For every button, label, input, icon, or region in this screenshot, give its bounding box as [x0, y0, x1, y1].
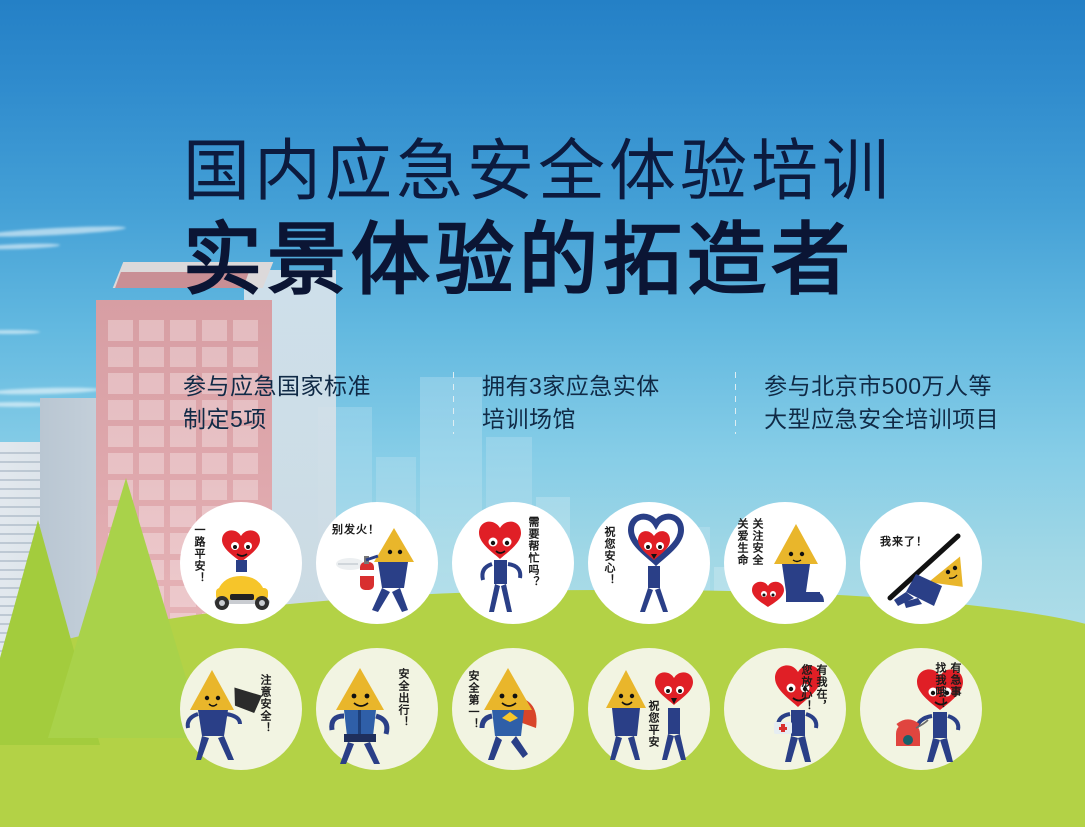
mascot-caption: 安全第一！ [466, 670, 479, 730]
feature-3-line-1: 参与北京市500万人等 [764, 370, 1023, 403]
mascot-row-2: 注意安全！ 安全出行！ [180, 648, 982, 770]
heart-with-telephone-illustration [860, 648, 982, 770]
headline-line-2: 实景体验的拓造者 [183, 214, 1013, 306]
mascot-bubble-heart-outline[interactable]: 祝您安心！ [588, 502, 710, 624]
feature-divider [453, 372, 454, 434]
feature-divider [735, 372, 736, 434]
mascot-bubble-safety-life[interactable]: 关注安全 关爱生命 [724, 502, 846, 624]
mascot-bubble-safe-travel[interactable]: 安全出行！ [316, 648, 438, 770]
mascot-bubble-heart-helping[interactable]: 需要帮忙吗？ [452, 502, 574, 624]
mascot-bubble-fire-extinguisher[interactable]: 别发火！ [316, 502, 438, 624]
mascot-bubble-im-coming[interactable]: 我来了！ [860, 502, 982, 624]
mascot-bubble-heart-car[interactable]: 一路平安！ [180, 502, 302, 624]
mascot-caption: 安全出行！ [396, 668, 409, 728]
triangle-with-megaphone-illustration [180, 648, 302, 770]
triangle-with-fire-extinguisher-illustration [316, 502, 438, 624]
feature-column-3: 参与北京市500万人等 大型应急安全培训项目 [764, 370, 1023, 436]
feature-1-line-1: 参与应急国家标准 [183, 370, 453, 403]
feature-column-2: 拥有3家应急实体 培训场馆 [482, 370, 735, 436]
mascot-bubble-wish-peace[interactable]: 祝您平安 [588, 648, 710, 770]
mascot-bubble-call-me[interactable]: 有急事 找我哦！ [860, 648, 982, 770]
feature-2-line-2: 培训场馆 [482, 403, 735, 436]
feature-3-line-2: 大型应急安全培训项目 [764, 403, 1023, 436]
mascot-caption: 有我在， 您放心！ [798, 664, 828, 712]
mascot-caption: 关注安全 关爱生命 [734, 518, 764, 566]
mascot-caption: 祝您平安 [646, 700, 659, 748]
mascot-caption: 我来了！ [880, 536, 928, 549]
mascot-caption: 有急事 找我哦！ [932, 662, 962, 710]
mascot-caption: 一路平安！ [192, 524, 205, 584]
mascot-row-1: 一路平安！ 别发火！ [180, 502, 982, 624]
feature-1-line-2: 制定5项 [183, 403, 453, 436]
mascot-caption: 需要帮忙吗？ [526, 516, 539, 588]
triangle-in-blue-jacket-illustration [316, 648, 438, 770]
feature-columns: 参与应急国家标准 制定5项 拥有3家应急实体 培训场馆 参与北京市500万人等 … [183, 370, 1023, 436]
mascot-bubble-rest-assured[interactable]: 有我在， 您放心！ [724, 648, 846, 770]
poster-canvas: 国内应急安全体验培训 实景体验的拓造者 参与应急国家标准 制定5项 拥有3家应急… [0, 0, 1085, 827]
mascot-bubble-safety-first[interactable]: 安全第一！ [452, 648, 574, 770]
heart-standing-waving-illustration [452, 502, 574, 624]
mascot-caption: 别发火！ [332, 524, 380, 537]
mascot-caption: 注意安全！ [258, 674, 271, 734]
feature-2-line-1: 拥有3家应急实体 [482, 370, 735, 403]
triangle-running-with-pole-illustration [860, 502, 982, 624]
feature-column-1: 参与应急国家标准 制定5项 [183, 370, 453, 436]
headline-block: 国内应急安全体验培训 实景体验的拓造者 [183, 132, 1013, 306]
mascot-bubble-megaphone[interactable]: 注意安全！ [180, 648, 302, 770]
headline-line-1: 国内应急安全体验培训 [183, 132, 1013, 212]
mascot-caption: 祝您安心！ [602, 526, 615, 586]
